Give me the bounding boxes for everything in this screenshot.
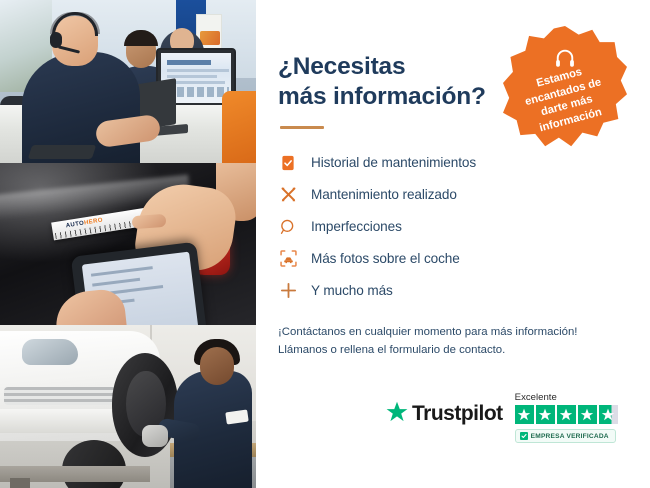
orange-chair bbox=[222, 91, 256, 163]
list-item: Mantenimiento realizado bbox=[278, 179, 624, 211]
feature-list: Historial de mantenimientos M bbox=[278, 147, 624, 307]
screen-row bbox=[167, 69, 229, 72]
car-grille bbox=[4, 387, 116, 405]
trustpilot-star-rating bbox=[515, 405, 618, 424]
car-inspection-ruler-tablet-photo: AUTOHERO bbox=[0, 163, 256, 326]
trustpilot-star-icon bbox=[386, 401, 408, 427]
tablet-screen-line bbox=[91, 266, 153, 277]
ruler-logo-suffix: HERO bbox=[84, 217, 104, 226]
rating-star-partial bbox=[599, 405, 618, 424]
page-title: ¿Necesitas más información? bbox=[278, 52, 498, 112]
status-badge: Estamos encantados de darte más informac… bbox=[503, 26, 627, 150]
contact-line-2: Llámanos o rellena el formulario de cont… bbox=[278, 344, 505, 356]
trustpilot-brand-label: Trustpilot bbox=[412, 402, 503, 426]
desk-tablet bbox=[28, 145, 97, 159]
headline-line-2: más información? bbox=[278, 83, 486, 110]
list-item-label: Y mucho más bbox=[311, 283, 393, 298]
inspector-finger bbox=[132, 213, 167, 228]
list-item: Más fotos sobre el coche bbox=[278, 243, 624, 275]
clipboard-check-icon bbox=[278, 153, 298, 173]
list-item-label: Mantenimiento realizado bbox=[311, 187, 457, 202]
check-icon bbox=[520, 432, 528, 440]
mechanic-head bbox=[200, 347, 234, 385]
information-promo-card: AUTOHERO bbox=[0, 0, 650, 488]
tools-wrench-screwdriver-icon bbox=[278, 185, 298, 205]
trustpilot-rating[interactable]: Trustpilot Excelente bbox=[386, 392, 618, 443]
car-headlight bbox=[22, 339, 78, 365]
rating-star-filled bbox=[515, 405, 534, 424]
list-item: Imperfecciones bbox=[278, 211, 624, 243]
contact-line-1: ¡Contáctanos en cualquier momento para m… bbox=[278, 326, 577, 338]
ruler-logo-prefix: AUTO bbox=[65, 220, 84, 229]
rating-star-filled bbox=[578, 405, 597, 424]
list-item-label: Más fotos sobre el coche bbox=[311, 251, 460, 266]
screen-header-bar bbox=[167, 60, 211, 65]
car-bumper bbox=[0, 409, 130, 433]
list-item-label: Historial de mantenimientos bbox=[311, 155, 476, 170]
mechanic-wheel-inspection-photo bbox=[0, 325, 256, 488]
plus-icon bbox=[278, 281, 298, 301]
rating-star-filled bbox=[536, 405, 555, 424]
list-item: Y mucho más bbox=[278, 275, 624, 307]
car-lift-post bbox=[10, 478, 30, 488]
list-item: Historial de mantenimientos bbox=[278, 147, 624, 179]
headline-line-1: ¿Necesitas bbox=[278, 53, 405, 80]
contact-text: ¡Contáctanos en cualquier momento para m… bbox=[278, 323, 624, 360]
list-item-label: Imperfecciones bbox=[311, 219, 402, 234]
mechanic-glove bbox=[142, 425, 168, 447]
screen-thumbnails bbox=[167, 87, 229, 97]
trustpilot-score-block: Excelente bbox=[515, 392, 618, 443]
title-divider bbox=[280, 126, 324, 129]
rating-star-filled bbox=[557, 405, 576, 424]
verified-company-badge: EMPRESA VERIFICADA bbox=[515, 429, 616, 443]
tablet-screen-line bbox=[92, 278, 140, 287]
photo-column: AUTOHERO bbox=[0, 0, 256, 488]
car-scan-frame-icon bbox=[278, 249, 298, 269]
trustpilot-logo[interactable]: Trustpilot bbox=[386, 392, 503, 427]
verified-company-label: EMPRESA VERIFICADA bbox=[531, 433, 609, 440]
magnifier-icon bbox=[278, 217, 298, 237]
call-center-agents-photo bbox=[0, 0, 256, 163]
trustpilot-rating-label: Excelente bbox=[515, 392, 557, 403]
